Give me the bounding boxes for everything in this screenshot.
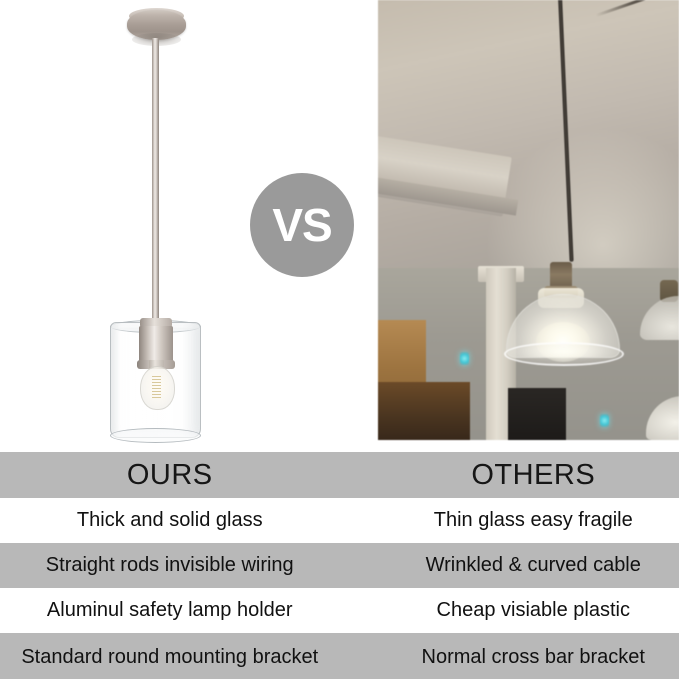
- table-row: Aluminul safety lamp holder Cheap visiab…: [0, 588, 679, 633]
- others-customer-photo: [378, 0, 679, 440]
- table-row: Standard round mounting bracket Normal c…: [0, 633, 679, 679]
- photo-comparison-area: VS: [0, 0, 679, 452]
- feature-ours: Straight rods invisible wiring: [0, 554, 354, 577]
- column-header-ours: OURS: [0, 459, 354, 492]
- feature-others: Cheap visiable plastic: [354, 599, 679, 622]
- feature-ours: Thick and solid glass: [0, 509, 354, 532]
- comparison-table: OURS OTHERS Thick and solid glass Thin g…: [0, 452, 679, 679]
- table-header-row: OURS OTHERS: [0, 452, 679, 498]
- comparison-infographic: VS: [0, 0, 679, 679]
- teal-nightlight-icon: [600, 414, 609, 427]
- feature-others: Wrinkled & curved cable: [354, 554, 679, 577]
- table-row: Straight rods invisible wiring Wrinkled …: [0, 543, 679, 588]
- filament-icon: [152, 376, 161, 398]
- vs-badge-label: VS: [272, 202, 331, 248]
- downrod-icon: [152, 38, 159, 328]
- teal-nightlight-icon: [460, 352, 469, 365]
- dark-doorway: [508, 388, 566, 440]
- cabinet-shadow: [378, 382, 470, 440]
- table-row: Thick and solid glass Thin glass easy fr…: [0, 498, 679, 543]
- column-header-others: OTHERS: [354, 459, 679, 492]
- feature-ours: Aluminul safety lamp holder: [0, 599, 354, 622]
- feature-others: Normal cross bar bracket: [354, 646, 679, 669]
- vs-badge: VS: [250, 173, 354, 277]
- feature-others: Thin glass easy fragile: [354, 509, 679, 532]
- feature-ours: Standard round mounting bracket: [0, 646, 354, 669]
- glass-bottom-rim: [110, 428, 201, 443]
- dome-shade-rim: [504, 342, 624, 366]
